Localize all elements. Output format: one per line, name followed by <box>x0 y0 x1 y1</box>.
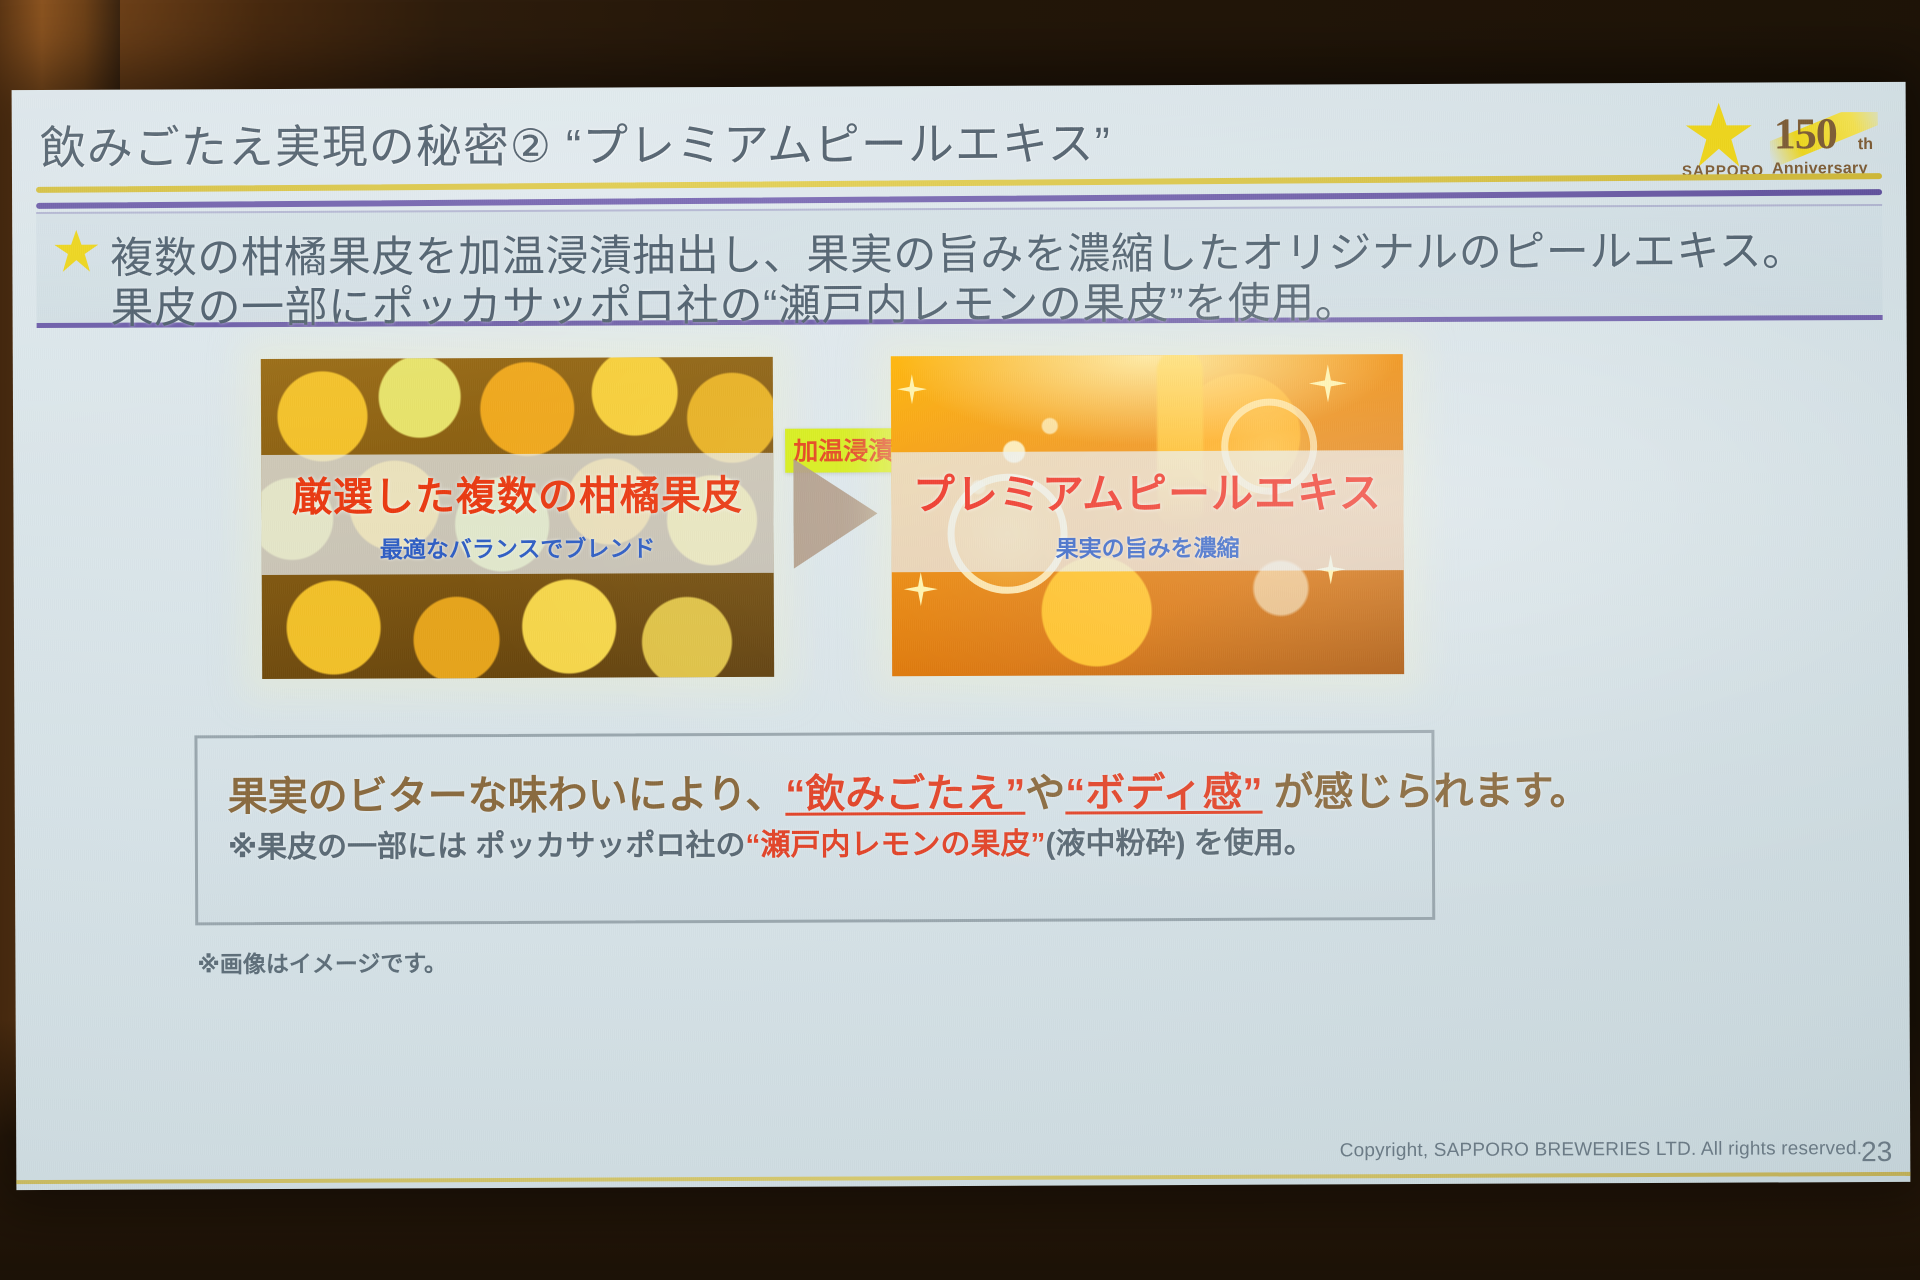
conclusion-sub-part2: (液中粉砕) を使用。 <box>1045 826 1313 860</box>
citrus-peels-panel: 厳選した複数の柑橘果皮 最適なバランスでブレンド <box>261 357 774 679</box>
slide-title: 飲みごたえ実現の秘密② “プレミアムピールエキス” <box>40 106 1320 178</box>
peel-extract-caption-sub: 果実の旨みを濃縮 <box>1056 528 1240 563</box>
peel-extract-caption-band: プレミアムピールエキス 果実の旨みを濃縮 <box>891 450 1404 572</box>
citrus-peels-caption-sub: 最適なバランスでブレンド <box>380 529 656 564</box>
star-icon <box>1686 103 1752 167</box>
copyright-notice: Copyright, SAPPORO BREWERIES LTD. All ri… <box>1340 1138 1863 1162</box>
right-arrow-icon <box>793 458 877 568</box>
process-diagram: 厳選した複数の柑橘果皮 最適なバランスでブレンド 加温浸漬抽出 プレミアムピール… <box>13 352 1909 710</box>
page-number: 23 <box>1861 1136 1892 1168</box>
logo-anniversary-number: 150 <box>1774 108 1837 159</box>
lead-bullet-band: 複数の柑橘果皮を加温浸漬抽出し、果実の旨みを濃縮したオリジナルのピールエキス。 … <box>36 204 1882 328</box>
image-disclaimer-note: ※画像はイメージです。 <box>197 944 447 979</box>
conclusion-main-part1: 果実のビターな味わいにより、 <box>228 773 786 819</box>
logo-anniversary-ordinal: th <box>1858 136 1873 154</box>
conclusion-highlight-1: “飲みごたえ” <box>785 772 1025 817</box>
conclusion-main-part2: が感じられます。 <box>1262 769 1589 814</box>
projected-slide: 飲みごたえ実現の秘密② “プレミアムピールエキス” SAPPORO 150 th… <box>12 82 1911 1190</box>
peel-extract-panel: プレミアムピールエキス 果実の旨みを濃縮 <box>891 354 1404 676</box>
conclusion-main-mid: や <box>1025 772 1065 816</box>
conclusion-highlight-2: “ボディ感” <box>1065 771 1262 816</box>
conclusion-sub-part1: ※果皮の一部には ポッカサッポロ社の <box>228 829 746 864</box>
conclusion-sub-highlight: “瀬戸内レモンの果皮” <box>745 828 1045 862</box>
presentation-photo-stage: 飲みごたえ実現の秘密② “プレミアムピールエキス” SAPPORO 150 th… <box>0 0 1920 1280</box>
citrus-peels-caption-band: 厳選した複数の柑橘果皮 最適なバランスでブレンド <box>261 453 774 575</box>
sapporo-150th-anniversary-logo: SAPPORO 150 th Anniversary <box>1682 100 1882 183</box>
star-icon <box>54 230 98 272</box>
conclusion-sub-text: ※果皮の一部には ポッカサッポロ社の“瀬戸内レモンの果皮”(液中粉砕) を使用。 <box>228 817 1314 866</box>
conclusion-box: 果実のビターな味わいにより、“飲みごたえ”や“ボディ感” が感じられます。 ※果… <box>194 730 1435 925</box>
bullet-line-2: 果皮の一部にポッカサッポロ社の“瀬戸内レモンの果皮”を使用。 <box>110 268 1358 335</box>
peel-extract-caption-main: プレミアムピールエキス <box>913 459 1382 522</box>
footer-divider <box>16 1172 1910 1184</box>
citrus-peels-caption-main: 厳選した複数の柑橘果皮 <box>292 463 743 523</box>
conclusion-main-text: 果実のビターな味わいにより、“飲みごたえ”や“ボディ感” が感じられます。 <box>228 758 1590 822</box>
